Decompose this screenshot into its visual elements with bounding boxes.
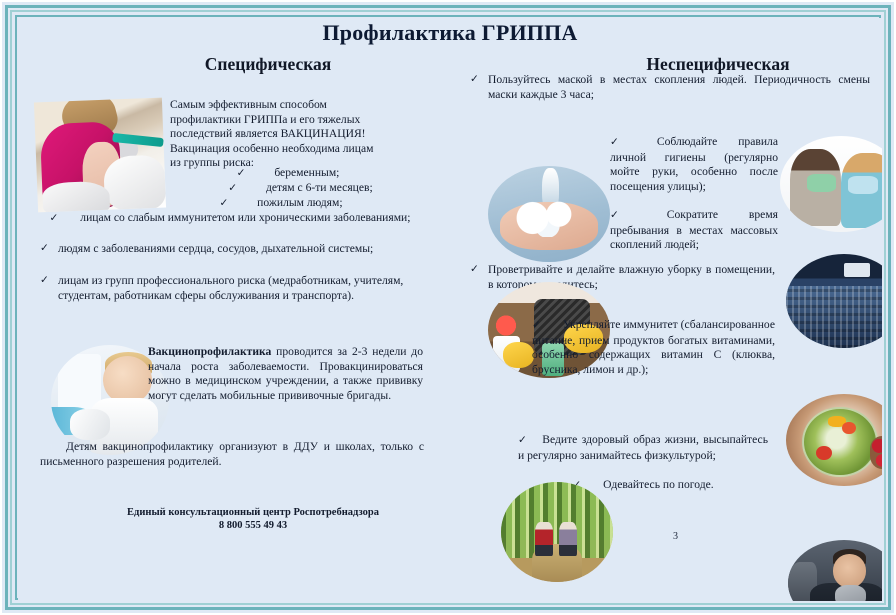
hotline-phone: 8 800 555 49 43 bbox=[88, 519, 418, 532]
kids-in-masks-photo bbox=[780, 136, 882, 232]
risk-item-1-label: детям с 6-ти месяцев; bbox=[266, 181, 373, 194]
hotline-name: Единый консультационный центр Роспотребн… bbox=[88, 506, 418, 519]
healthy-salad-photo bbox=[786, 394, 882, 486]
risk-item-3-label: лицам со слабым иммунитетом или хроничес… bbox=[80, 211, 410, 224]
risk-item-5-row: ✓ лицам из групп профессионального риска… bbox=[40, 274, 424, 303]
check-icon: ✓ bbox=[470, 263, 488, 278]
nonspecific-item-1-row: ✓Соблюдайте правила личной гигиены (регу… bbox=[610, 135, 778, 194]
nonspecific-item-0-row: ✓ Пользуйтесь маской в местах скопления … bbox=[470, 73, 870, 102]
nonspecific-item-3-row: ✓ Проветривайте и делайте влажную уборку… bbox=[470, 263, 775, 292]
crowd-auditorium-photo bbox=[786, 254, 882, 348]
check-icon: ✓ bbox=[610, 137, 637, 148]
check-icon: ✓ bbox=[40, 242, 58, 257]
handwashing-photo bbox=[488, 166, 610, 262]
girl-vaccination-photo bbox=[34, 98, 166, 213]
section-heading-nonspecific: Неспецифическая bbox=[578, 54, 858, 75]
risk-item-5-label: лицам из групп профессионального риска (… bbox=[58, 274, 424, 303]
risk-item-0-row: ✓ беременным; bbox=[188, 166, 388, 182]
risk-item-4-label: людям с заболеваниями сердца, сосудов, д… bbox=[58, 242, 424, 257]
risk-item-2-label: пожилым людям; bbox=[257, 196, 342, 209]
check-icon: ✓ bbox=[228, 183, 237, 194]
page-number: 3 bbox=[673, 531, 678, 542]
check-icon: ✓ bbox=[237, 168, 246, 179]
specific-intro-text: Самым эффективным способом профилактики … bbox=[170, 98, 385, 171]
nonspecific-item-2-row: ✓Сократите время пребывания в местах мас… bbox=[610, 208, 778, 253]
vaccine-prophylaxis-paragraph: Вакцинопрофилактика проводится за 2-3 не… bbox=[148, 345, 423, 403]
section-heading-specific: Специфическая bbox=[138, 54, 398, 75]
risk-item-3-row: ✓лицам со слабым иммунитетом или хрониче… bbox=[40, 211, 420, 227]
check-icon: ✓ bbox=[470, 73, 488, 88]
cyclists-forest-photo bbox=[501, 482, 613, 582]
check-icon: ✓ bbox=[610, 210, 647, 221]
vaccine-children-note: Детям вакцинопрофилактику организуют в Д… bbox=[40, 440, 424, 469]
nonspecific-item-4-row: ✓Укрепляйте иммунитет (сбалансированное … bbox=[470, 318, 775, 377]
nonspecific-item-4-label: Укрепляйте иммунитет (сбалансированное п… bbox=[532, 318, 775, 376]
risk-item-0-label: беременным; bbox=[274, 166, 339, 179]
nonspecific-item-6-label: Одевайтесь по погоде. bbox=[603, 478, 714, 491]
nonspecific-item-5-row: ✓Ведите здоровый образ жизни, высыпайтес… bbox=[518, 433, 768, 463]
check-icon: ✓ bbox=[532, 320, 541, 331]
vaccine-prophylaxis-lead: Вакцинопрофилактика bbox=[148, 345, 271, 358]
check-icon: ✓ bbox=[49, 213, 58, 224]
poster-slide: Профилактика ГРИППА Специфическая Неспец… bbox=[0, 0, 896, 615]
risk-item-2-row: ✓ пожилым людям; bbox=[181, 196, 381, 212]
cold-weather-man-photo bbox=[788, 540, 882, 601]
nonspecific-item-5-label: Ведите здоровый образ жизни, высыпайтесь… bbox=[518, 433, 768, 462]
poster-canvas: Профилактика ГРИППА Специфическая Неспец… bbox=[18, 18, 882, 601]
page-title: Профилактика ГРИППА bbox=[18, 20, 882, 46]
check-icon: ✓ bbox=[518, 435, 528, 446]
risk-item-1-row: ✓ детям с 6-ти месяцев; bbox=[193, 181, 408, 197]
check-icon: ✓ bbox=[219, 198, 228, 209]
check-icon: ✓ bbox=[40, 274, 58, 289]
risk-item-4-row: ✓ людям с заболеваниями сердца, сосудов,… bbox=[40, 242, 424, 257]
nonspecific-item-0-label: Пользуйтесь маской в местах скопления лю… bbox=[488, 73, 870, 102]
